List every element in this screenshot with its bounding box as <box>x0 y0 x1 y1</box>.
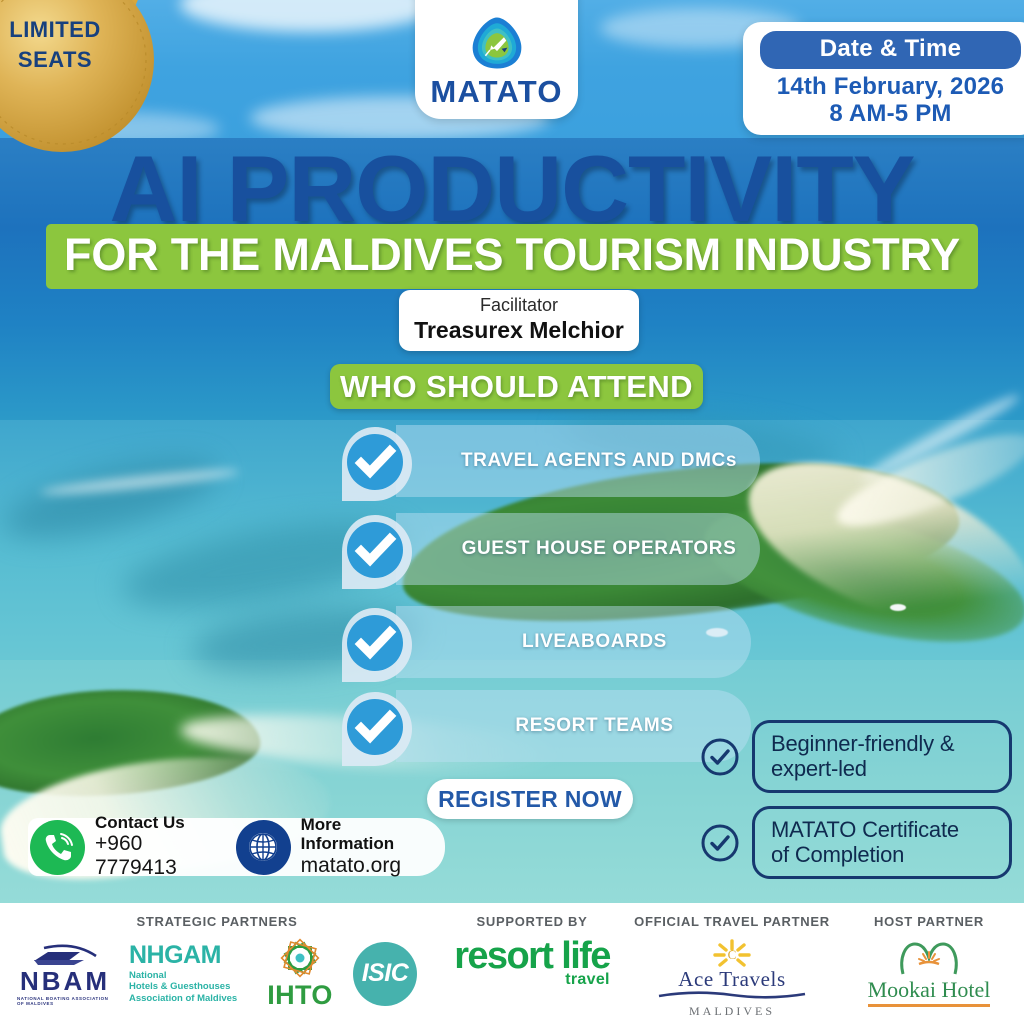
svg-text:C: C <box>728 947 737 962</box>
check-circle-icon <box>336 690 414 768</box>
feature-line-1: Beginner-friendly & <box>771 731 954 756</box>
list-item-bar: GUEST HOUSE OPERATORS <box>396 513 760 585</box>
list-item-label: TRAVEL AGENTS AND DMCs <box>419 450 737 472</box>
feature-badge-text: Beginner-friendly & expert-led <box>771 732 954 781</box>
feature-line-1: MATATO Certificate <box>771 817 959 842</box>
facilitator-card: Facilitator Treasurex Melchior <box>399 290 639 351</box>
check-circle-icon <box>336 606 414 684</box>
who-should-attend-label: WHO SHOULD ATTEND <box>340 369 693 405</box>
partner-logo-isic: ISIC <box>353 942 417 1006</box>
seal-line-1: LIMITED <box>9 15 101 45</box>
register-now-label: REGISTER NOW <box>438 786 622 813</box>
list-item-bar: LIVEABOARDS <box>396 606 751 678</box>
footer-group-supported-by: SUPPORTED BY resort life travel <box>434 914 630 989</box>
phone-icon-circle[interactable] <box>30 820 85 875</box>
seal-line-2: SEATS <box>18 45 92 75</box>
partner-name-nbam: NBAM <box>20 968 110 994</box>
poster: LIMITED SEATS MATATO Date & Time 14th Fe… <box>0 0 1024 1024</box>
list-item-label: LIVEABOARDS <box>480 631 667 653</box>
partner-name-nhgam: NHGAM <box>129 943 221 968</box>
feature-badge-text: MATATO Certificate of Completion <box>771 818 959 867</box>
date-time-heading: Date & Time <box>760 31 1021 69</box>
subtitle-band: FOR THE MALDIVES TOURISM INDUSTRY <box>46 224 978 289</box>
isic-circle: ISIC <box>353 942 417 1006</box>
page-subtitle: FOR THE MALDIVES TOURISM INDUSTRY <box>64 229 960 281</box>
rosette-icon <box>276 938 324 982</box>
feature-badge-box: Beginner-friendly & expert-led <box>752 720 1012 793</box>
seal-text: LIMITED SEATS <box>0 0 142 120</box>
phone-icon <box>41 831 75 865</box>
nhgam-line-2: Hotels & Guesthouses <box>129 981 230 992</box>
facilitator-label: Facilitator <box>407 295 631 317</box>
contact-phone-text: Contact Us +960 7779413 <box>95 814 224 881</box>
facilitator-name: Treasurex Melchior <box>407 317 631 343</box>
partner-tagline-nbam: NATIONAL BOATING ASSOCIATION OF MALDIVES <box>17 996 113 1006</box>
partner-name-ihto: IHTO <box>267 982 333 1009</box>
check-circle-icon <box>336 513 414 591</box>
partner-name-ace-travels: Ace Travels <box>678 969 786 990</box>
event-time: 8 AM-5 PM <box>753 100 1024 127</box>
footer-group-title: HOST PARTNER <box>874 914 984 929</box>
matato-logo-card: MATATO <box>415 0 578 119</box>
partner-name-isic: ISIC <box>362 959 409 988</box>
footer-group-title: SUPPORTED BY <box>477 914 588 929</box>
partner-tagline-resort-life: travel <box>454 971 610 989</box>
globe-icon <box>244 828 282 866</box>
boat <box>890 604 906 611</box>
check-circle-outline-icon <box>700 737 740 777</box>
check-circle-icon <box>336 425 414 503</box>
nhgam-line-3: Association of Maldives <box>129 993 237 1004</box>
mookai-arch-icon <box>897 938 961 978</box>
mookai-underline <box>868 1004 991 1007</box>
footer-group-strategic-partners: STRATEGIC PARTNERS NBAM NATIONAL BOATING… <box>0 914 434 1009</box>
sun-icon: C <box>704 938 760 968</box>
check-circle-outline-icon <box>700 823 740 863</box>
list-item-bar: RESORT TEAMS <box>396 690 751 762</box>
partner-name-resort-life: resort life <box>454 938 610 974</box>
partner-logo-nbam: NBAM NATIONAL BOATING ASSOCIATION OF MAL… <box>17 942 113 1006</box>
more-information-label: More Information <box>301 816 433 853</box>
globe-icon-circle[interactable] <box>236 820 291 875</box>
contact-web-text: More Information matato.org <box>301 816 433 878</box>
partner-logo-ihto: IHTO <box>263 938 337 1009</box>
partners-footer: STRATEGIC PARTNERS NBAM NATIONAL BOATING… <box>0 903 1024 1024</box>
partner-tagline-nhgam: National Hotels & Guesthouses Associatio… <box>129 970 237 1004</box>
footer-group-title: OFFICIAL TRAVEL PARTNER <box>634 914 830 929</box>
nhgam-line-1: National <box>129 970 166 981</box>
contact-phone-number[interactable]: +960 7779413 <box>95 832 224 880</box>
contact-bar: Contact Us +960 7779413 More Information… <box>28 818 445 876</box>
limited-seats-seal: LIMITED SEATS <box>0 0 182 180</box>
partner-tagline-ace-travels: MALDIVES <box>689 1004 775 1019</box>
date-time-card: Date & Time 14th February, 2026 8 AM-5 P… <box>743 22 1024 135</box>
footer-group-host-partner: HOST PARTNER Mookai Hotel <box>834 914 1024 1007</box>
partner-logo-nhgam: NHGAM National Hotels & Guesthouses Asso… <box>129 943 247 1004</box>
who-should-attend-heading: WHO SHOULD ATTEND <box>330 364 703 409</box>
list-item-label: RESORT TEAMS <box>473 715 673 737</box>
feature-badge-beginner: Beginner-friendly & expert-led <box>700 720 1012 793</box>
feature-badge-box: MATATO Certificate of Completion <box>752 806 1012 879</box>
feature-line-2: expert-led <box>771 756 867 781</box>
footer-group-official-travel-partner: OFFICIAL TRAVEL PARTNER C <box>630 914 834 1019</box>
matato-brand-text: MATATO <box>430 74 562 110</box>
event-date: 14th February, 2026 <box>753 73 1024 100</box>
boat-icon <box>28 942 102 968</box>
wave-divider-icon <box>657 991 807 999</box>
list-item-label: GUEST HOUSE OPERATORS <box>420 538 737 560</box>
register-now-button[interactable]: REGISTER NOW <box>427 779 633 819</box>
contact-us-label: Contact Us <box>95 814 224 833</box>
feature-badge-certificate: MATATO Certificate of Completion <box>700 806 1012 879</box>
footer-group-title: STRATEGIC PARTNERS <box>137 914 298 929</box>
website-url[interactable]: matato.org <box>301 854 433 878</box>
list-item-bar: TRAVEL AGENTS AND DMCs <box>396 425 760 497</box>
partner-name-mookai-hotel: Mookai Hotel <box>868 979 991 1001</box>
feature-line-2: of Completion <box>771 842 904 867</box>
matato-triangle-plane-logo-icon <box>468 14 526 72</box>
